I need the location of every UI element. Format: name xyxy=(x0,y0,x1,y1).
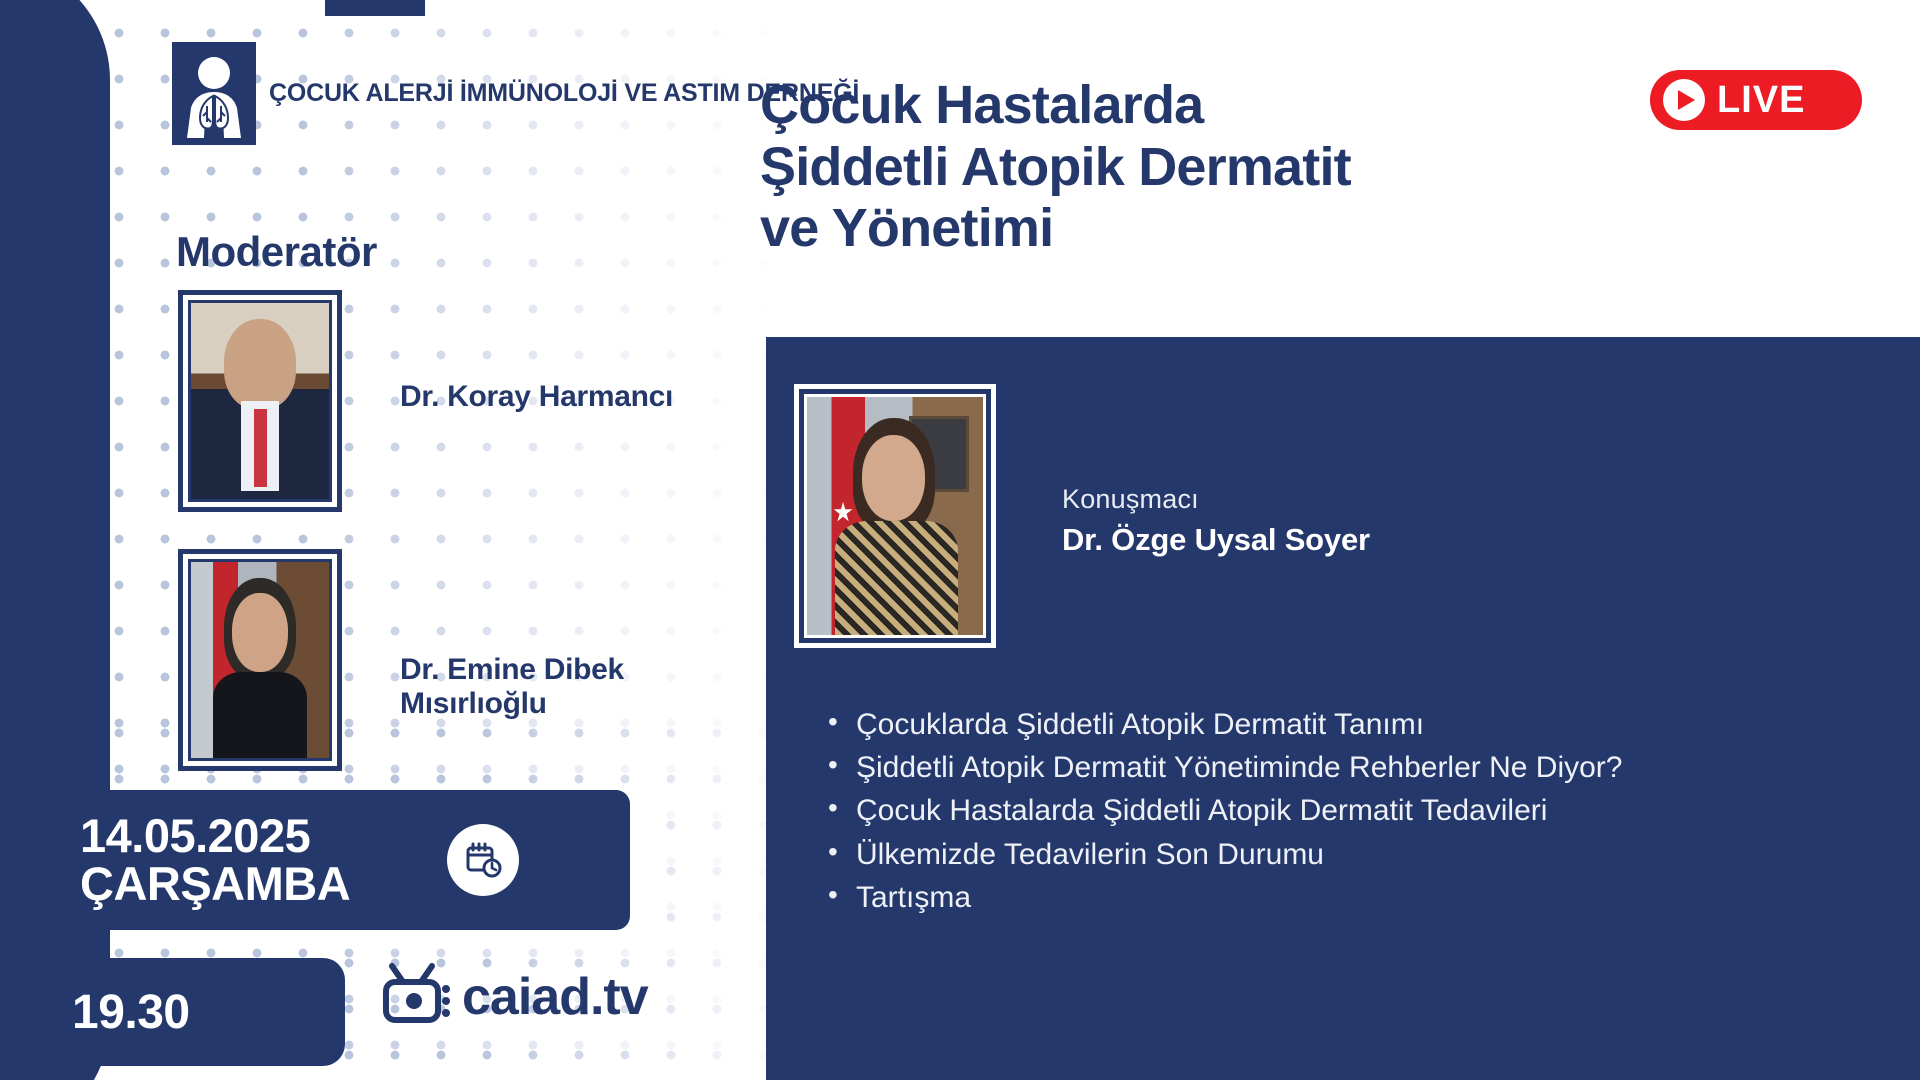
list-item: Ülkemizde Tedavilerin Son Durumu xyxy=(820,835,1860,875)
event-time-block: 19.30 xyxy=(0,958,345,1066)
calendar-clock-icon xyxy=(447,824,519,896)
association-logo: ÇOCUK ALERJİ İMMÜNOLOJİ VE ASTIM DERNEĞİ xyxy=(172,42,859,145)
top-navy-tab-decoration xyxy=(325,0,425,16)
list-item: Tartışma xyxy=(820,878,1860,918)
play-icon xyxy=(1663,79,1705,121)
event-date-block: 14.05.2025 ÇARŞAMBA xyxy=(0,790,630,930)
speaker-role-label: Konuşmacı xyxy=(1062,484,1199,515)
page-title: Çocuk Hastalarda Şiddetli Atopik Dermati… xyxy=(760,75,1640,260)
live-label: LIVE xyxy=(1717,79,1805,122)
list-item: Çocuk Hastalarda Şiddetli Atopik Dermati… xyxy=(820,791,1860,831)
channel-row[interactable]: caiad.tv xyxy=(380,962,648,1031)
speaker-name: Dr. Özge Uysal Soyer xyxy=(1062,522,1370,558)
channel-label: caiad.tv xyxy=(462,967,648,1027)
webinar-poster: ÇOCUK ALERJİ İMMÜNOLOJİ VE ASTIM DERNEĞİ… xyxy=(0,0,1920,1080)
list-item: Şiddetli Atopik Dermatit Yönetiminde Reh… xyxy=(820,748,1860,788)
moderator-name-2: Dr. Emine Dibek Mısırlıoğlu xyxy=(400,653,720,720)
moderator-photo-koray-harmanci xyxy=(178,290,342,512)
list-item: Çocuklarda Şiddetli Atopik Dermatit Tanı… xyxy=(820,705,1860,745)
moderator-name-1: Dr. Koray Harmancı xyxy=(400,380,700,414)
television-icon xyxy=(380,962,454,1031)
topics-list: Çocuklarda Şiddetli Atopik Dermatit Tanı… xyxy=(820,705,1860,921)
speaker-photo-ozge-uysal-soyer xyxy=(794,384,996,648)
live-badge[interactable]: LIVE xyxy=(1650,70,1862,130)
child-lungs-logo-icon xyxy=(172,42,256,145)
moderator-photo-emine-dibek-misirlioglu xyxy=(178,549,342,771)
event-time-text: 19.30 xyxy=(72,985,190,1040)
moderator-label: Moderatör xyxy=(176,228,377,276)
event-date-text: 14.05.2025 ÇARŞAMBA xyxy=(80,812,350,908)
